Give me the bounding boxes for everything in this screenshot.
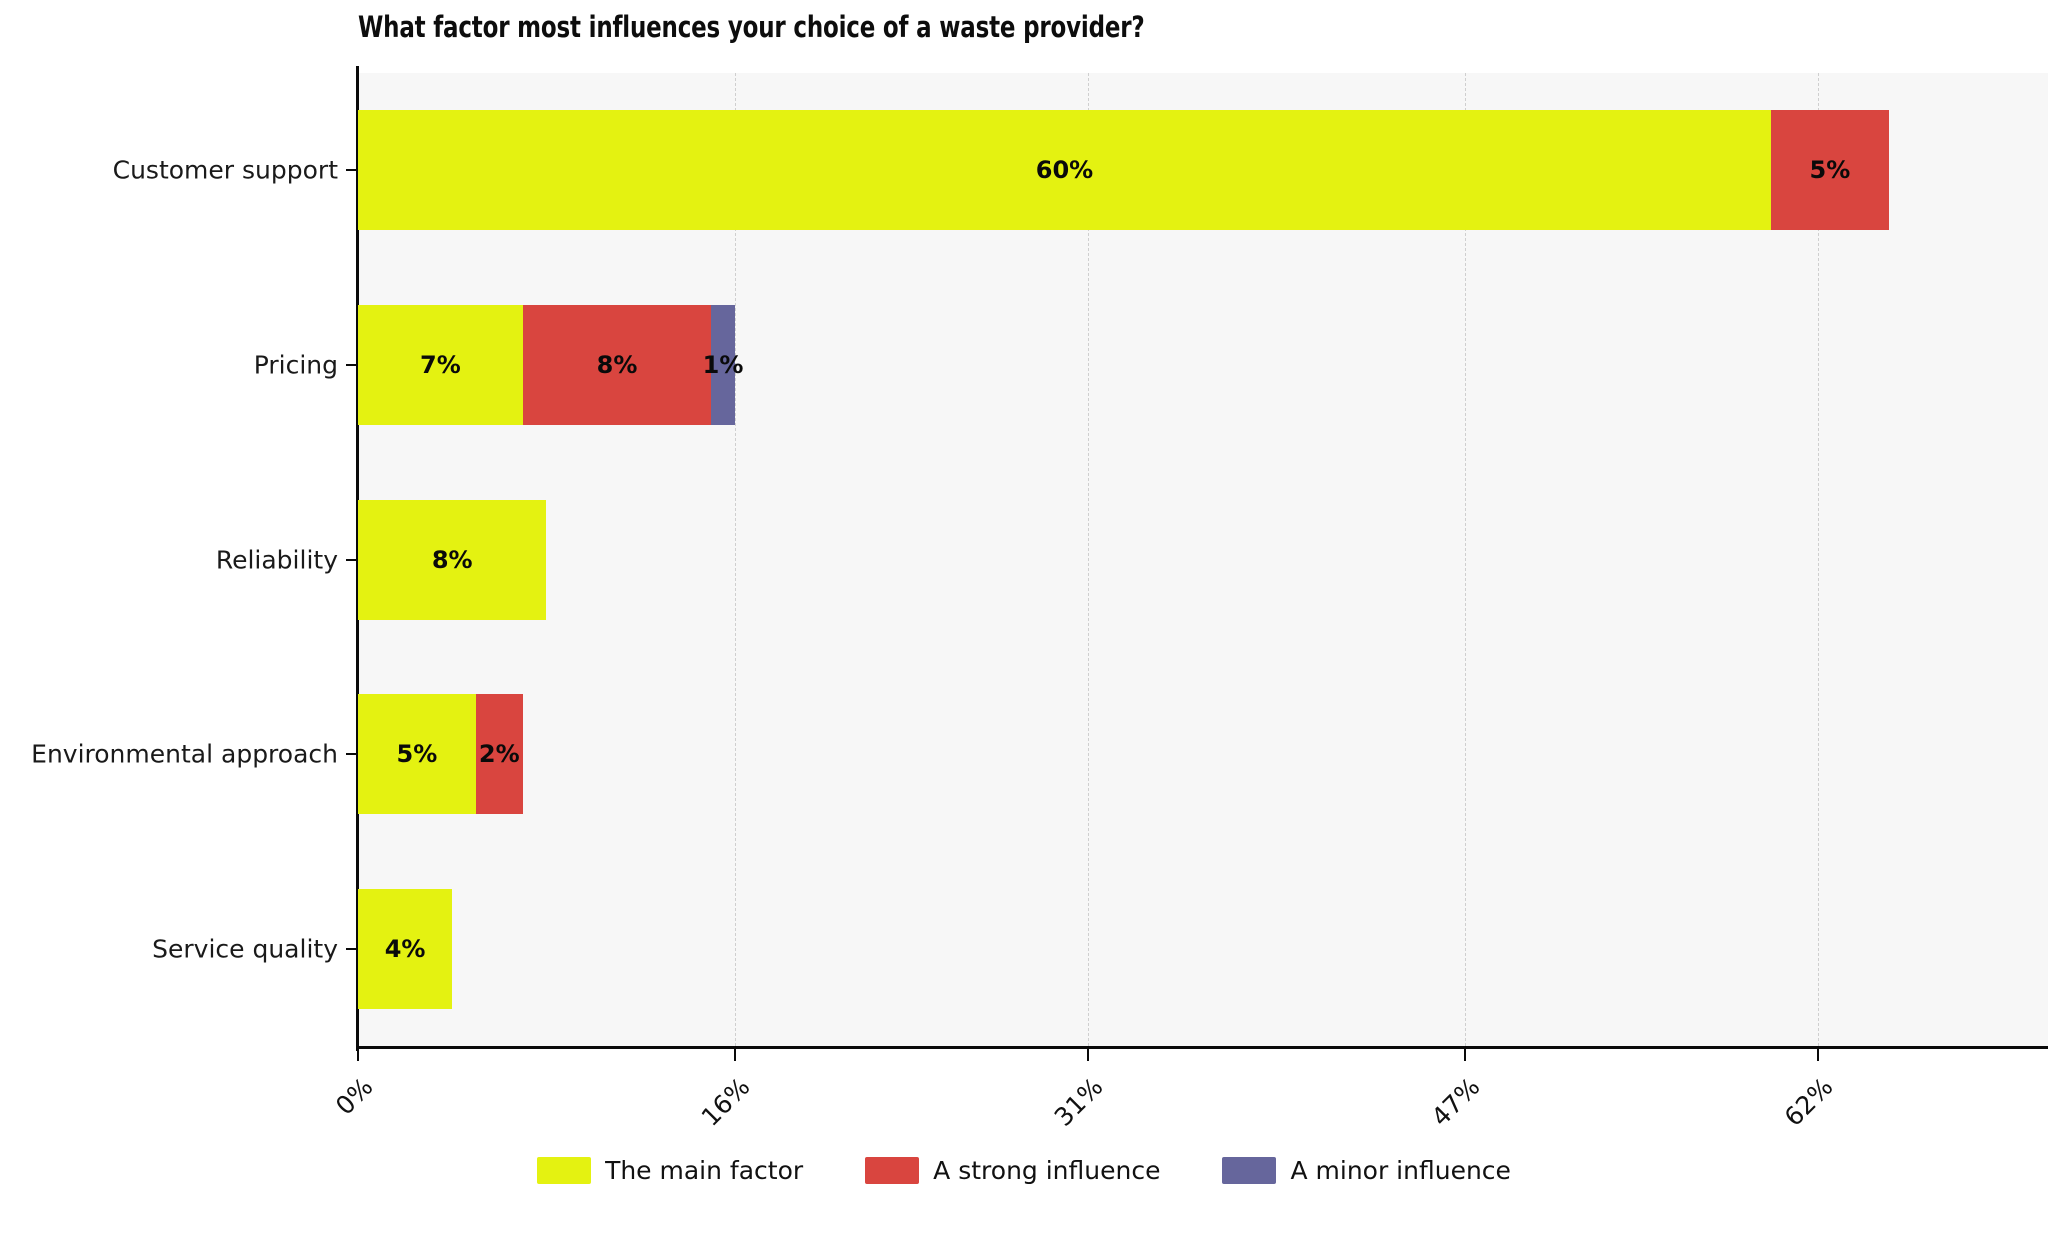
bar-value-label: 60% (1036, 156, 1093, 184)
legend-item[interactable]: A strong influence (865, 1156, 1160, 1185)
legend-label: The main factor (605, 1156, 803, 1185)
bar-value-label: 4% (385, 935, 426, 963)
legend-label: A minor influence (1290, 1156, 1510, 1185)
chart-title: What factor most influences your choice … (358, 10, 1145, 44)
bar-chart: What factor most influences your choice … (0, 0, 2048, 1219)
bar-value-label: 8% (432, 546, 473, 574)
y-tick-mark (346, 169, 358, 171)
y-axis-label: Environmental approach (31, 740, 338, 769)
x-tick-mark (1464, 1049, 1466, 1061)
legend-swatch-icon (1222, 1157, 1276, 1184)
y-tick-mark (346, 948, 358, 950)
x-axis-label: 0% (217, 1072, 379, 1234)
x-tick-mark (1087, 1049, 1089, 1061)
x-axis-label: 31% (947, 1072, 1109, 1234)
bar-value-label: 7% (420, 351, 461, 379)
legend-item[interactable]: A minor influence (1222, 1156, 1510, 1185)
bar-segment[interactable]: 7% (358, 305, 523, 425)
bar-segment[interactable]: 8% (523, 305, 711, 425)
legend-label: A strong influence (933, 1156, 1160, 1185)
bar-segment[interactable]: 5% (358, 694, 476, 814)
y-axis-label: Reliability (216, 545, 338, 574)
legend-swatch-icon (537, 1157, 591, 1184)
legend-swatch-icon (865, 1157, 919, 1184)
bar-value-label: 5% (1810, 156, 1851, 184)
x-tick-mark (734, 1049, 736, 1061)
legend-item[interactable]: The main factor (537, 1156, 803, 1185)
x-axis-label: 16% (593, 1072, 755, 1234)
x-tick-mark (1817, 1049, 1819, 1061)
y-axis-label: Service quality (152, 934, 338, 963)
bar-segment[interactable]: 5% (1771, 110, 1889, 230)
y-tick-mark (346, 753, 358, 755)
y-tick-mark (346, 559, 358, 561)
y-axis-label: Pricing (254, 350, 338, 379)
bar-value-label: 2% (479, 740, 520, 768)
bar-value-label: 8% (597, 351, 638, 379)
y-axis-label: Customer support (113, 156, 338, 185)
bar-value-label: 5% (397, 740, 438, 768)
x-tick-mark (357, 1049, 359, 1061)
bar-segment[interactable]: 1% (711, 305, 735, 425)
bar-segment[interactable]: 4% (358, 889, 452, 1009)
x-axis-spine (356, 1046, 2048, 1049)
chart-legend: The main factorA strong influenceA minor… (0, 1156, 2048, 1185)
x-axis-label: 62% (1677, 1072, 1839, 1234)
y-tick-mark (346, 364, 358, 366)
bar-segment[interactable]: 2% (476, 694, 523, 814)
bar-segment[interactable]: 60% (358, 110, 1771, 230)
x-axis-label: 47% (1323, 1072, 1485, 1234)
bar-segment[interactable]: 8% (358, 500, 546, 620)
